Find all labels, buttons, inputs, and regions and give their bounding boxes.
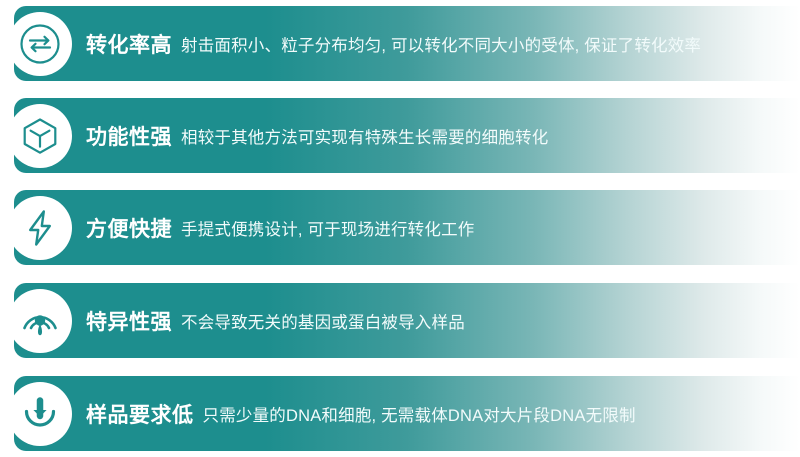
- lightning-bolt-icon: [17, 205, 63, 251]
- feature-description: 只需少量的DNA和细胞, 无需载体DNA对大片段DNA无限制: [203, 402, 636, 426]
- feature-icon-badge: [8, 12, 72, 76]
- feature-description: 不会导致无关的基因或蛋白被导入样品: [181, 309, 465, 333]
- feature-text: 样品要求低 只需少量的DNA和细胞, 无需载体DNA对大片段DNA无限制: [86, 376, 636, 451]
- cube-box-icon: [17, 113, 63, 159]
- feature-row: 转化率高 射击面积小、粒子分布均匀, 可以转化不同大小的受体, 保证了转化效率: [0, 6, 800, 81]
- feature-text: 功能性强 相较于其他方法可实现有特殊生长需要的细胞转化: [86, 98, 548, 173]
- target-signal-icon: [17, 298, 63, 344]
- feature-row: 样品要求低 只需少量的DNA和细胞, 无需载体DNA对大片段DNA无限制: [0, 376, 800, 451]
- feature-icon-badge: [8, 382, 72, 446]
- feature-title: 样品要求低: [86, 399, 194, 429]
- feature-icon-badge: [8, 196, 72, 260]
- feature-title: 特异性强: [86, 306, 172, 336]
- feature-text: 特异性强 不会导致无关的基因或蛋白被导入样品: [86, 283, 465, 358]
- exchange-arrows-icon: [17, 21, 63, 67]
- feature-title: 功能性强: [86, 121, 172, 151]
- feature-row: 方便快捷 手提式便携设计, 可于现场进行转化工作: [0, 190, 800, 265]
- feature-description: 相较于其他方法可实现有特殊生长需要的细胞转化: [181, 124, 548, 148]
- feature-description: 射击面积小、粒子分布均匀, 可以转化不同大小的受体, 保证了转化效率: [181, 32, 701, 56]
- feature-title: 方便快捷: [86, 213, 172, 243]
- feature-list: 转化率高 射击面积小、粒子分布均匀, 可以转化不同大小的受体, 保证了转化效率 …: [0, 0, 800, 457]
- feature-icon-badge: [8, 104, 72, 168]
- feature-title: 转化率高: [86, 29, 172, 59]
- feature-text: 转化率高 射击面积小、粒子分布均匀, 可以转化不同大小的受体, 保证了转化效率: [86, 6, 701, 81]
- download-tray-icon: [17, 391, 63, 437]
- feature-row: 功能性强 相较于其他方法可实现有特殊生长需要的细胞转化: [0, 98, 800, 173]
- feature-row: 特异性强 不会导致无关的基因或蛋白被导入样品: [0, 283, 800, 358]
- feature-icon-badge: [8, 289, 72, 353]
- feature-text: 方便快捷 手提式便携设计, 可于现场进行转化工作: [86, 190, 474, 265]
- feature-description: 手提式便携设计, 可于现场进行转化工作: [181, 216, 474, 240]
